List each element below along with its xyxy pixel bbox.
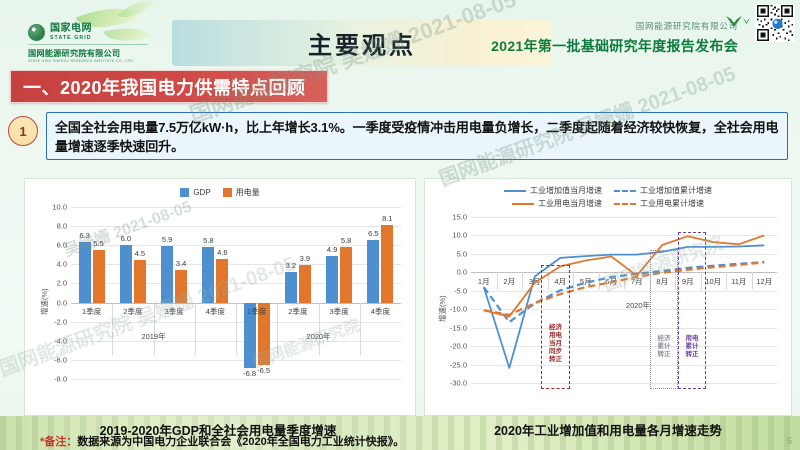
legend-line-icon [614, 203, 636, 205]
bar [202, 247, 214, 302]
bar [93, 250, 105, 303]
chart-legend: GDP用电量 [25, 187, 415, 198]
note-label: 备注： [44, 436, 77, 448]
bar-value-label: 5.8 [203, 236, 213, 245]
section-banner-label: 一、2020年我国电力供需特点回顾 [23, 74, 306, 100]
bar-value-label: 3.2 [286, 261, 296, 270]
bar-value-label: 4.5 [135, 249, 145, 258]
category-separator [112, 303, 113, 355]
y-axis-tick: 15.0 [452, 213, 471, 222]
event-header: 国网能源研究院有限公司 2021年第一批基础研究年度报告发布会 [491, 20, 738, 56]
y-axis-tick: -8.0 [54, 375, 71, 384]
y-axis-tick: -15.0 [450, 323, 471, 332]
org-short-name-en: STATE GRID [50, 35, 92, 41]
y-axis-label: 增速(%) [437, 295, 448, 322]
gridline [71, 360, 401, 361]
legend-item: 工业用电累计增速 [614, 198, 704, 209]
gridline [471, 383, 777, 384]
bar-value-label: 4.9 [327, 245, 337, 254]
y-axis-tick: 10.0 [52, 203, 71, 212]
category-separator [154, 303, 155, 355]
y-axis-tick: -20.0 [450, 342, 471, 351]
bar-value-label: 5.9 [162, 235, 172, 244]
logo-divider [28, 44, 148, 45]
bar-value-label: 6.3 [79, 231, 89, 240]
legend-label: 用电量 [236, 187, 260, 198]
slide-root: 国家电网 STATE GRID 国网能源研究院有限公司 STATE GRID E… [0, 0, 800, 450]
x-axis-category: 1季度 [82, 306, 101, 317]
bar [381, 225, 393, 302]
bar [326, 256, 338, 303]
x-axis-group-label: 2020年 [306, 331, 330, 342]
bar [367, 240, 379, 302]
y-axis-tick: -25.0 [450, 360, 471, 369]
y-axis-tick: 8.0 [57, 222, 71, 231]
y-axis-tick: 10.0 [452, 231, 471, 240]
state-grid-globe-icon [28, 24, 45, 41]
key-point-text: 全国全社会用电量7.5万亿kW·h，比上年增长3.1%。一季度受疫情冲击用电量负… [55, 118, 779, 156]
bird-logo-icon [724, 14, 752, 34]
chart-legend: 工业用电当月增速工业用电累计增速 [425, 198, 791, 209]
legend-swatch-icon [180, 188, 189, 197]
y-axis-tick: 5.0 [457, 249, 471, 258]
y-axis-tick: -6.0 [54, 355, 71, 364]
x-axis-category: 4季度 [206, 306, 225, 317]
annotation-box [650, 250, 679, 389]
annotation-label: 经济累计转正 [658, 335, 671, 359]
legend-label: 工业增加值当月增速 [530, 185, 602, 196]
x-axis-category: 2季度 [288, 306, 307, 317]
category-separator [319, 303, 320, 355]
x-axis-category: 2季度 [123, 306, 142, 317]
x-axis-group-label: 2019年 [141, 331, 165, 342]
y-axis-tick: 2.0 [57, 279, 71, 288]
key-point-callout: 全国全社会用电量7.5万亿kW·h，比上年增长3.1%。一季度受疫情冲击用电量负… [46, 112, 788, 160]
legend-item: 用电量 [223, 187, 260, 198]
bar-value-label: -6.5 [257, 366, 270, 375]
category-separator [277, 303, 278, 355]
y-axis-tick: -5.0 [454, 286, 471, 295]
legend-line-icon [504, 190, 526, 192]
note-text: 数据来源为中国电力企业联合会《2020年全国电力工业统计快报》。 [77, 436, 404, 448]
bar-value-label: 3.4 [176, 259, 186, 268]
plot-area: 15.010.05.00.0-5.0-10.0-15.0-20.0-25.0-3… [471, 217, 777, 383]
bar [134, 260, 146, 303]
y-axis-tick: -30.0 [450, 379, 471, 388]
bar [285, 272, 297, 303]
legend-label: 工业用电累计增速 [640, 198, 704, 209]
chart-panel-monthly-trend: 工业增加值当月增速工业增加值累计增速工业用电当月增速工业用电累计增速15.010… [424, 178, 792, 416]
institute-name: 国网能源研究院有限公司 [28, 47, 148, 59]
legend-label: 工业用电当月增速 [538, 198, 602, 209]
y-axis-tick: 0.0 [57, 298, 71, 307]
y-axis-tick: -2.0 [54, 317, 71, 326]
data-line [484, 262, 765, 322]
annotation-label: 用电累计转正 [686, 335, 699, 359]
data-line [484, 262, 765, 314]
org-short-name: 国家电网 [50, 24, 92, 35]
bar [299, 265, 311, 302]
bullet-number-badge: 1 [8, 116, 38, 146]
legend-item: GDP [180, 187, 210, 198]
bar [216, 259, 228, 303]
chart-caption-right: 2020年工业增加值和用电量各月增速走势 [494, 420, 722, 439]
y-axis-tick: 4.0 [57, 260, 71, 269]
annotation-box [678, 232, 706, 389]
event-org: 国网能源研究院有限公司 [491, 20, 738, 32]
gridline [71, 226, 401, 227]
brand-logo: 国家电网 STATE GRID 国网能源研究院有限公司 STATE GRID E… [28, 24, 148, 63]
bar-value-label: 6.0 [121, 234, 131, 243]
chart-panel-quarterly-growth: GDP用电量10.08.06.04.02.00.0-2.0-4.0-6.0-8.… [24, 178, 416, 416]
source-note: *备注：数据来源为中国电力企业联合会《2020年全国电力工业统计快报》。 [40, 433, 404, 449]
bar-value-label: 8.1 [382, 214, 392, 223]
y-axis-tick: -4.0 [54, 336, 71, 345]
y-axis-tick: -10.0 [450, 305, 471, 314]
chart-legend: 工业增加值当月增速工业增加值累计增速 [425, 185, 791, 196]
category-separator [360, 303, 361, 355]
x-axis-category: 1季度 [247, 306, 266, 317]
bar [175, 270, 187, 302]
legend-item: 工业增加值当月增速 [504, 185, 602, 196]
legend-line-icon [512, 203, 534, 205]
annotation-label: 经济用电当月同步转正 [549, 324, 562, 365]
gridline [71, 207, 401, 208]
institute-name-en: STATE GRID ENERGY RESEARCH INSTITUTE CO.… [28, 59, 148, 63]
legend-line-icon [614, 190, 636, 192]
category-separator [236, 303, 237, 355]
legend-item: 工业用电当月增速 [512, 198, 602, 209]
legend-label: 工业增加值累计增速 [640, 185, 712, 196]
section-banner: 一、2020年我国电力供需特点回顾 [10, 70, 328, 103]
x-axis-category: 3季度 [165, 306, 184, 317]
legend-label: GDP [193, 188, 210, 197]
bar [340, 247, 352, 302]
x-axis-category: 4季度 [371, 306, 390, 317]
bar-value-label: 5.5 [93, 239, 103, 248]
y-axis-tick: 0.0 [457, 268, 471, 277]
bar [161, 246, 173, 302]
line-series-group [471, 217, 777, 383]
bar-value-label: 3.9 [300, 254, 310, 263]
bar-value-label: 4.6 [217, 248, 227, 257]
bar-value-label: 6.5 [368, 229, 378, 238]
legend-swatch-icon [223, 188, 232, 197]
x-axis-category: 3季度 [330, 306, 349, 317]
qr-code-icon [755, 4, 795, 42]
bar-value-label: -6.8 [243, 369, 256, 378]
bar [79, 242, 91, 302]
gridline [71, 379, 401, 380]
event-title: 2021年第一批基础研究年度报告发布会 [491, 36, 738, 56]
page-number: 5 [787, 436, 792, 446]
bar [120, 245, 132, 302]
plot-area: 10.08.06.04.02.00.0-2.0-4.0-6.0-8.06.35.… [71, 207, 401, 379]
y-axis-tick: 6.0 [57, 241, 71, 250]
bar-value-label: 5.8 [341, 236, 351, 245]
legend-item: 工业增加值累计增速 [614, 185, 712, 196]
category-separator [195, 303, 196, 355]
y-axis-label: 增速(%) [39, 288, 50, 315]
